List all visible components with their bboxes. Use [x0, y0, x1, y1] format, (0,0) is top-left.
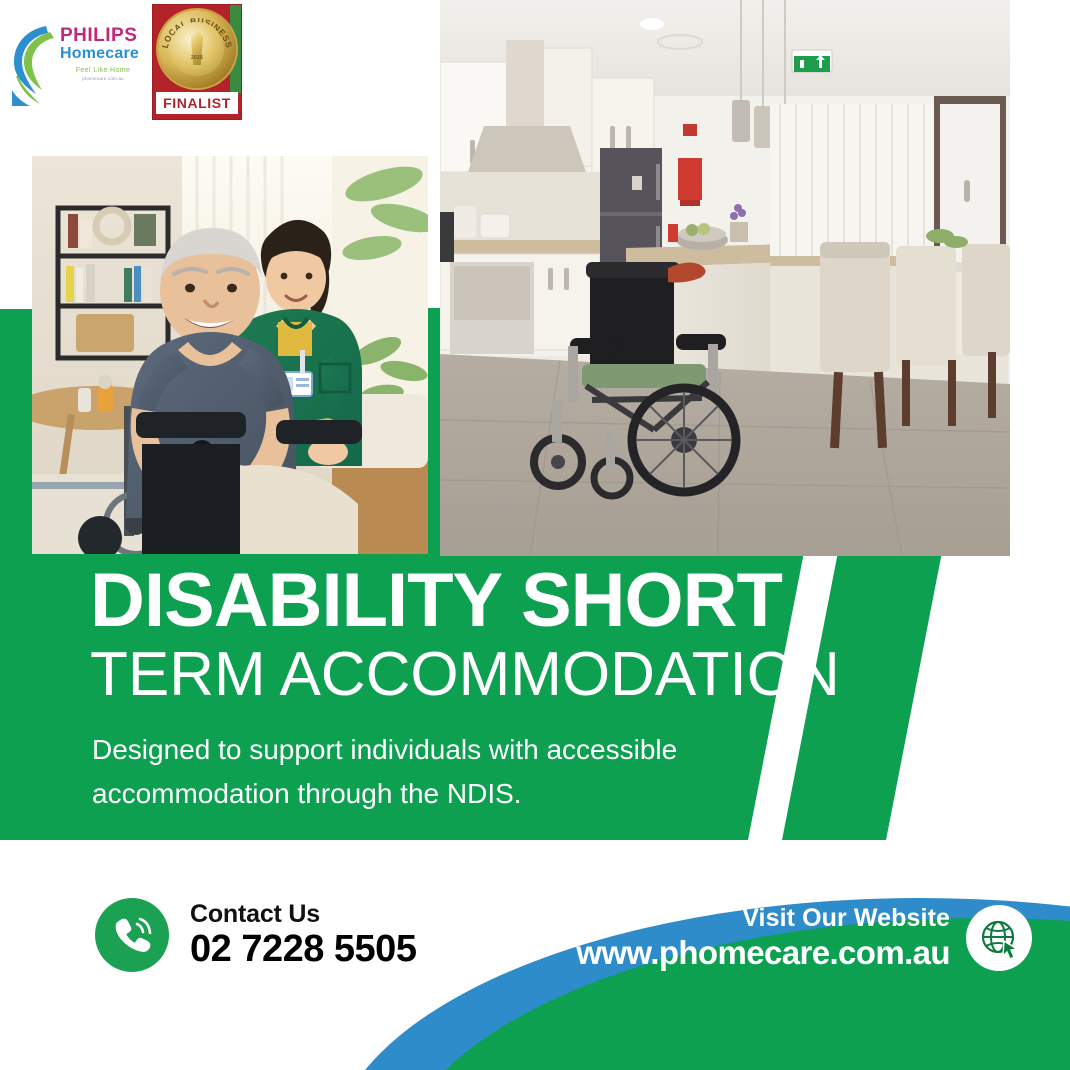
- philips-homecare-logo[interactable]: PHILIPS Homecare Feel Like Home phomecar…: [10, 8, 138, 118]
- headline-line-1: DISABILITY SHORT: [90, 565, 780, 638]
- badge-finalist-banner: FINALIST: [156, 92, 238, 114]
- marketing-poster: PHILIPS Homecare Feel Like Home phomecar…: [0, 0, 1070, 1070]
- photo-carer-and-client: [32, 156, 428, 554]
- brand-name-homecare: Homecare: [60, 45, 146, 63]
- badge-gold-disc: LOCAL BUSINESS AWARDS 2025: [158, 10, 236, 88]
- phone-call-icon: [111, 914, 153, 956]
- contact-label: Contact Us: [190, 900, 416, 928]
- contact-phone-number[interactable]: 02 7228 5505: [190, 928, 416, 971]
- brand-name-philips: PHILIPS: [60, 26, 146, 45]
- globe-cursor-icon: [977, 916, 1021, 960]
- headline-block: DISABILITY SHORT TERM ACCOMMODATION: [90, 565, 780, 707]
- header-logos: PHILIPS Homecare Feel Like Home phomecar…: [0, 0, 440, 140]
- globe-icon-circle: [966, 905, 1032, 971]
- photo-carer-and-client-art: [32, 156, 428, 554]
- badge-finalist-label: FINALIST: [163, 95, 231, 111]
- brand-wordmark: PHILIPS Homecare Feel Like Home phomecar…: [60, 26, 146, 81]
- website-url[interactable]: www.phomecare.com.au: [576, 933, 950, 973]
- contact-block[interactable]: Contact Us 02 7228 5505: [95, 898, 416, 972]
- subtitle-text: Designed to support individuals with acc…: [92, 728, 772, 816]
- website-text-block: Visit Our Website www.phomecare.com.au: [576, 904, 950, 972]
- photo-accessible-kitchen-art: [440, 0, 1010, 556]
- brand-url: phomecare.com.au: [60, 76, 146, 81]
- band-top-left-notch: [0, 283, 34, 309]
- website-label: Visit Our Website: [576, 904, 950, 933]
- heart-swoosh-icon: [10, 20, 64, 108]
- website-block[interactable]: Visit Our Website www.phomecare.com.au: [576, 904, 1032, 972]
- exit-sign: [792, 50, 832, 72]
- footer-bar: Contact Us 02 7228 5505 Visit Our Websit…: [0, 840, 1070, 1070]
- headline-line-2: TERM ACCOMMODATION: [90, 642, 780, 707]
- photo-accessible-kitchen: [440, 0, 1010, 556]
- phone-icon-circle: [95, 898, 169, 972]
- brand-tagline: Feel Like Home: [60, 67, 146, 74]
- contact-text-block: Contact Us 02 7228 5505: [190, 900, 416, 971]
- badge-year: 2025: [191, 55, 203, 61]
- local-business-awards-badge: LOCAL BUSINESS AWARDS 2025 FINALIST: [152, 4, 242, 120]
